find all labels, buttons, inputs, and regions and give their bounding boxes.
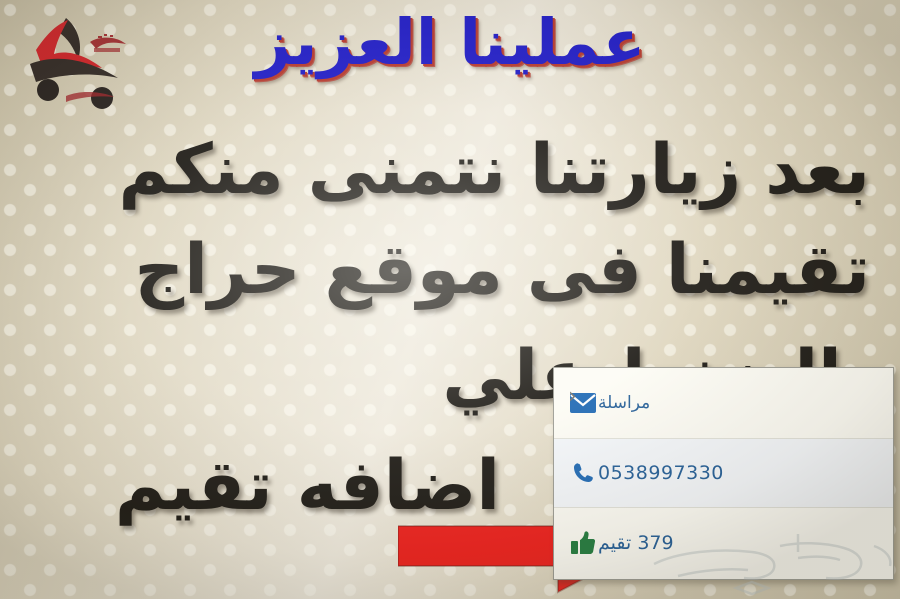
phone-icon bbox=[568, 458, 598, 488]
contact-card[interactable]: مراسلة ‹ 0538997330 379 تقيم bbox=[553, 367, 894, 580]
message-line-2: تقيمنا فى موقع حراج bbox=[135, 236, 870, 305]
card-row-message[interactable]: مراسلة ‹ bbox=[554, 368, 893, 438]
thumbs-up-icon bbox=[568, 528, 598, 558]
card-row-rating[interactable]: 379 تقيم bbox=[554, 508, 893, 578]
card-row-phone[interactable]: 0538997330 bbox=[554, 438, 893, 508]
rating-count-label: 379 تقيم bbox=[598, 532, 674, 554]
poster-canvas: عملينا العزيز بعد زيارتنا نتمنى منكم تقي… bbox=[0, 0, 900, 599]
card-row-message-label: مراسلة bbox=[598, 393, 650, 413]
message-line-1: بعد زيارتنا نتمنى منكم bbox=[119, 136, 870, 205]
back-chevron-icon[interactable]: ‹ bbox=[568, 386, 577, 408]
phone-number: 0538997330 bbox=[598, 462, 724, 484]
page-title: عملينا العزيز bbox=[0, 8, 900, 77]
